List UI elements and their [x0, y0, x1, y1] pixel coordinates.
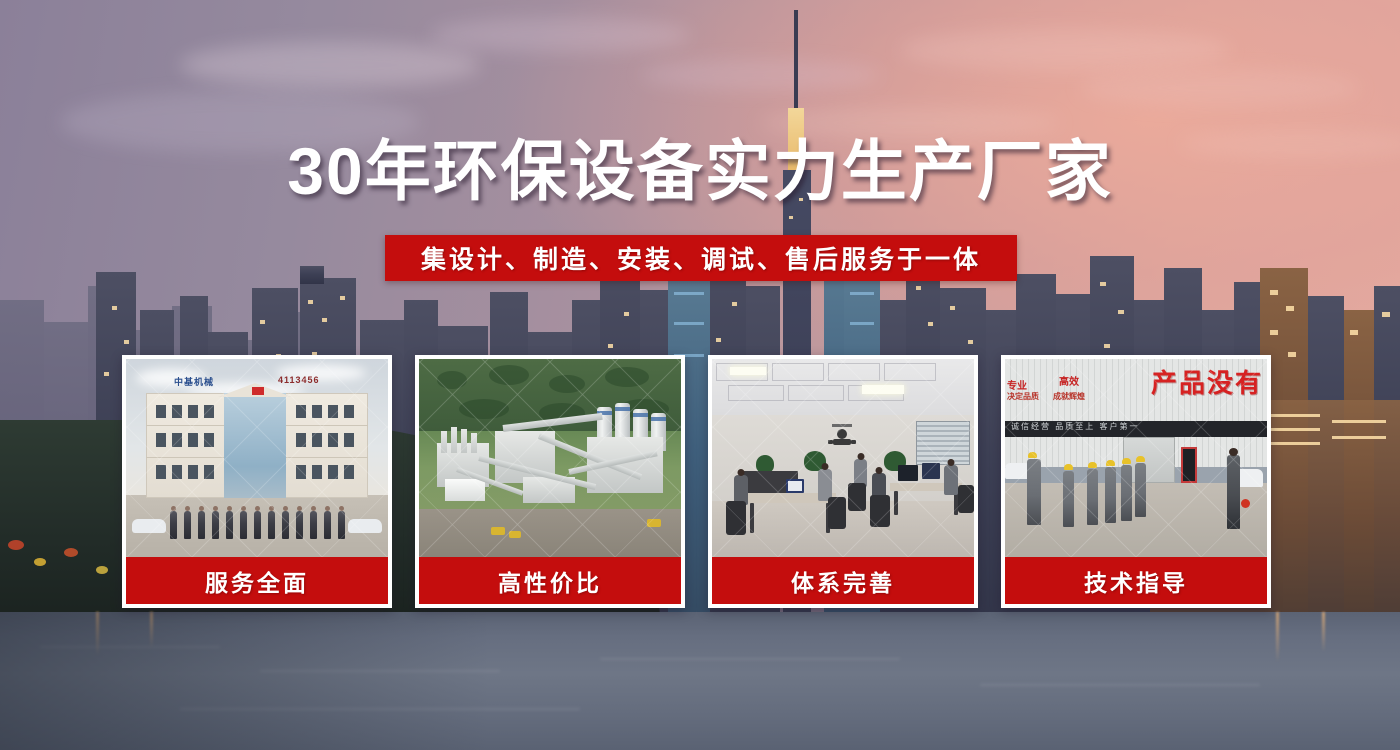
- building-sign-text: 中基机械: [174, 375, 214, 388]
- photo-company-building: 中基机械 4113456: [126, 359, 388, 557]
- subtitle-banner: 集设计、制造、安装、调试、售后服务于一体: [385, 235, 1017, 281]
- factory-sign-text: 产品没有: [1151, 363, 1263, 400]
- factory-band-text: 诚信经营 品质至上 客户第一: [1011, 421, 1261, 437]
- card-label-value: 高性价比: [419, 557, 681, 604]
- building-phone-text: 4113456: [278, 375, 320, 385]
- card-label-guidance: 技术指导: [1005, 557, 1267, 604]
- feature-card-service[interactable]: 中基机械 4113456 服务全面: [122, 355, 392, 608]
- card-label-service: 服务全面: [126, 557, 388, 604]
- card-label-system: 体系完善: [712, 557, 974, 604]
- factory-sign-small-1: 专业: [1007, 377, 1027, 392]
- subtitle-text: 集设计、制造、安装、调试、售后服务于一体: [421, 240, 981, 276]
- feature-card-system[interactable]: 体系完善: [708, 355, 978, 608]
- feature-card-value[interactable]: 高性价比: [415, 355, 685, 608]
- feature-card-guidance[interactable]: 产品没有 专业 决定品质 高效 成就辉煌 诚信经营 品质至上 客户第一: [1001, 355, 1271, 608]
- page-title: 30年环保设备实力生产厂家: [0, 134, 1400, 208]
- photo-office-interior: [712, 359, 974, 557]
- factory-sign-small-2: 高效: [1059, 373, 1079, 388]
- factory-sign-small-3: 决定品质: [1007, 391, 1039, 402]
- factory-sign-small-4: 成就辉煌: [1053, 391, 1085, 402]
- banner-stage: 30年环保设备实力生产厂家 集设计、制造、安装、调试、售后服务于一体: [0, 0, 1400, 750]
- river-water: [0, 612, 1400, 750]
- photo-industrial-plant: [419, 359, 681, 557]
- wall-logo-icon: [820, 423, 864, 449]
- photo-factory-workers: 产品没有 专业 决定品质 高效 成就辉煌 诚信经营 品质至上 客户第一: [1005, 359, 1267, 557]
- feature-card-row: 中基机械 4113456 服务全面: [122, 355, 1279, 608]
